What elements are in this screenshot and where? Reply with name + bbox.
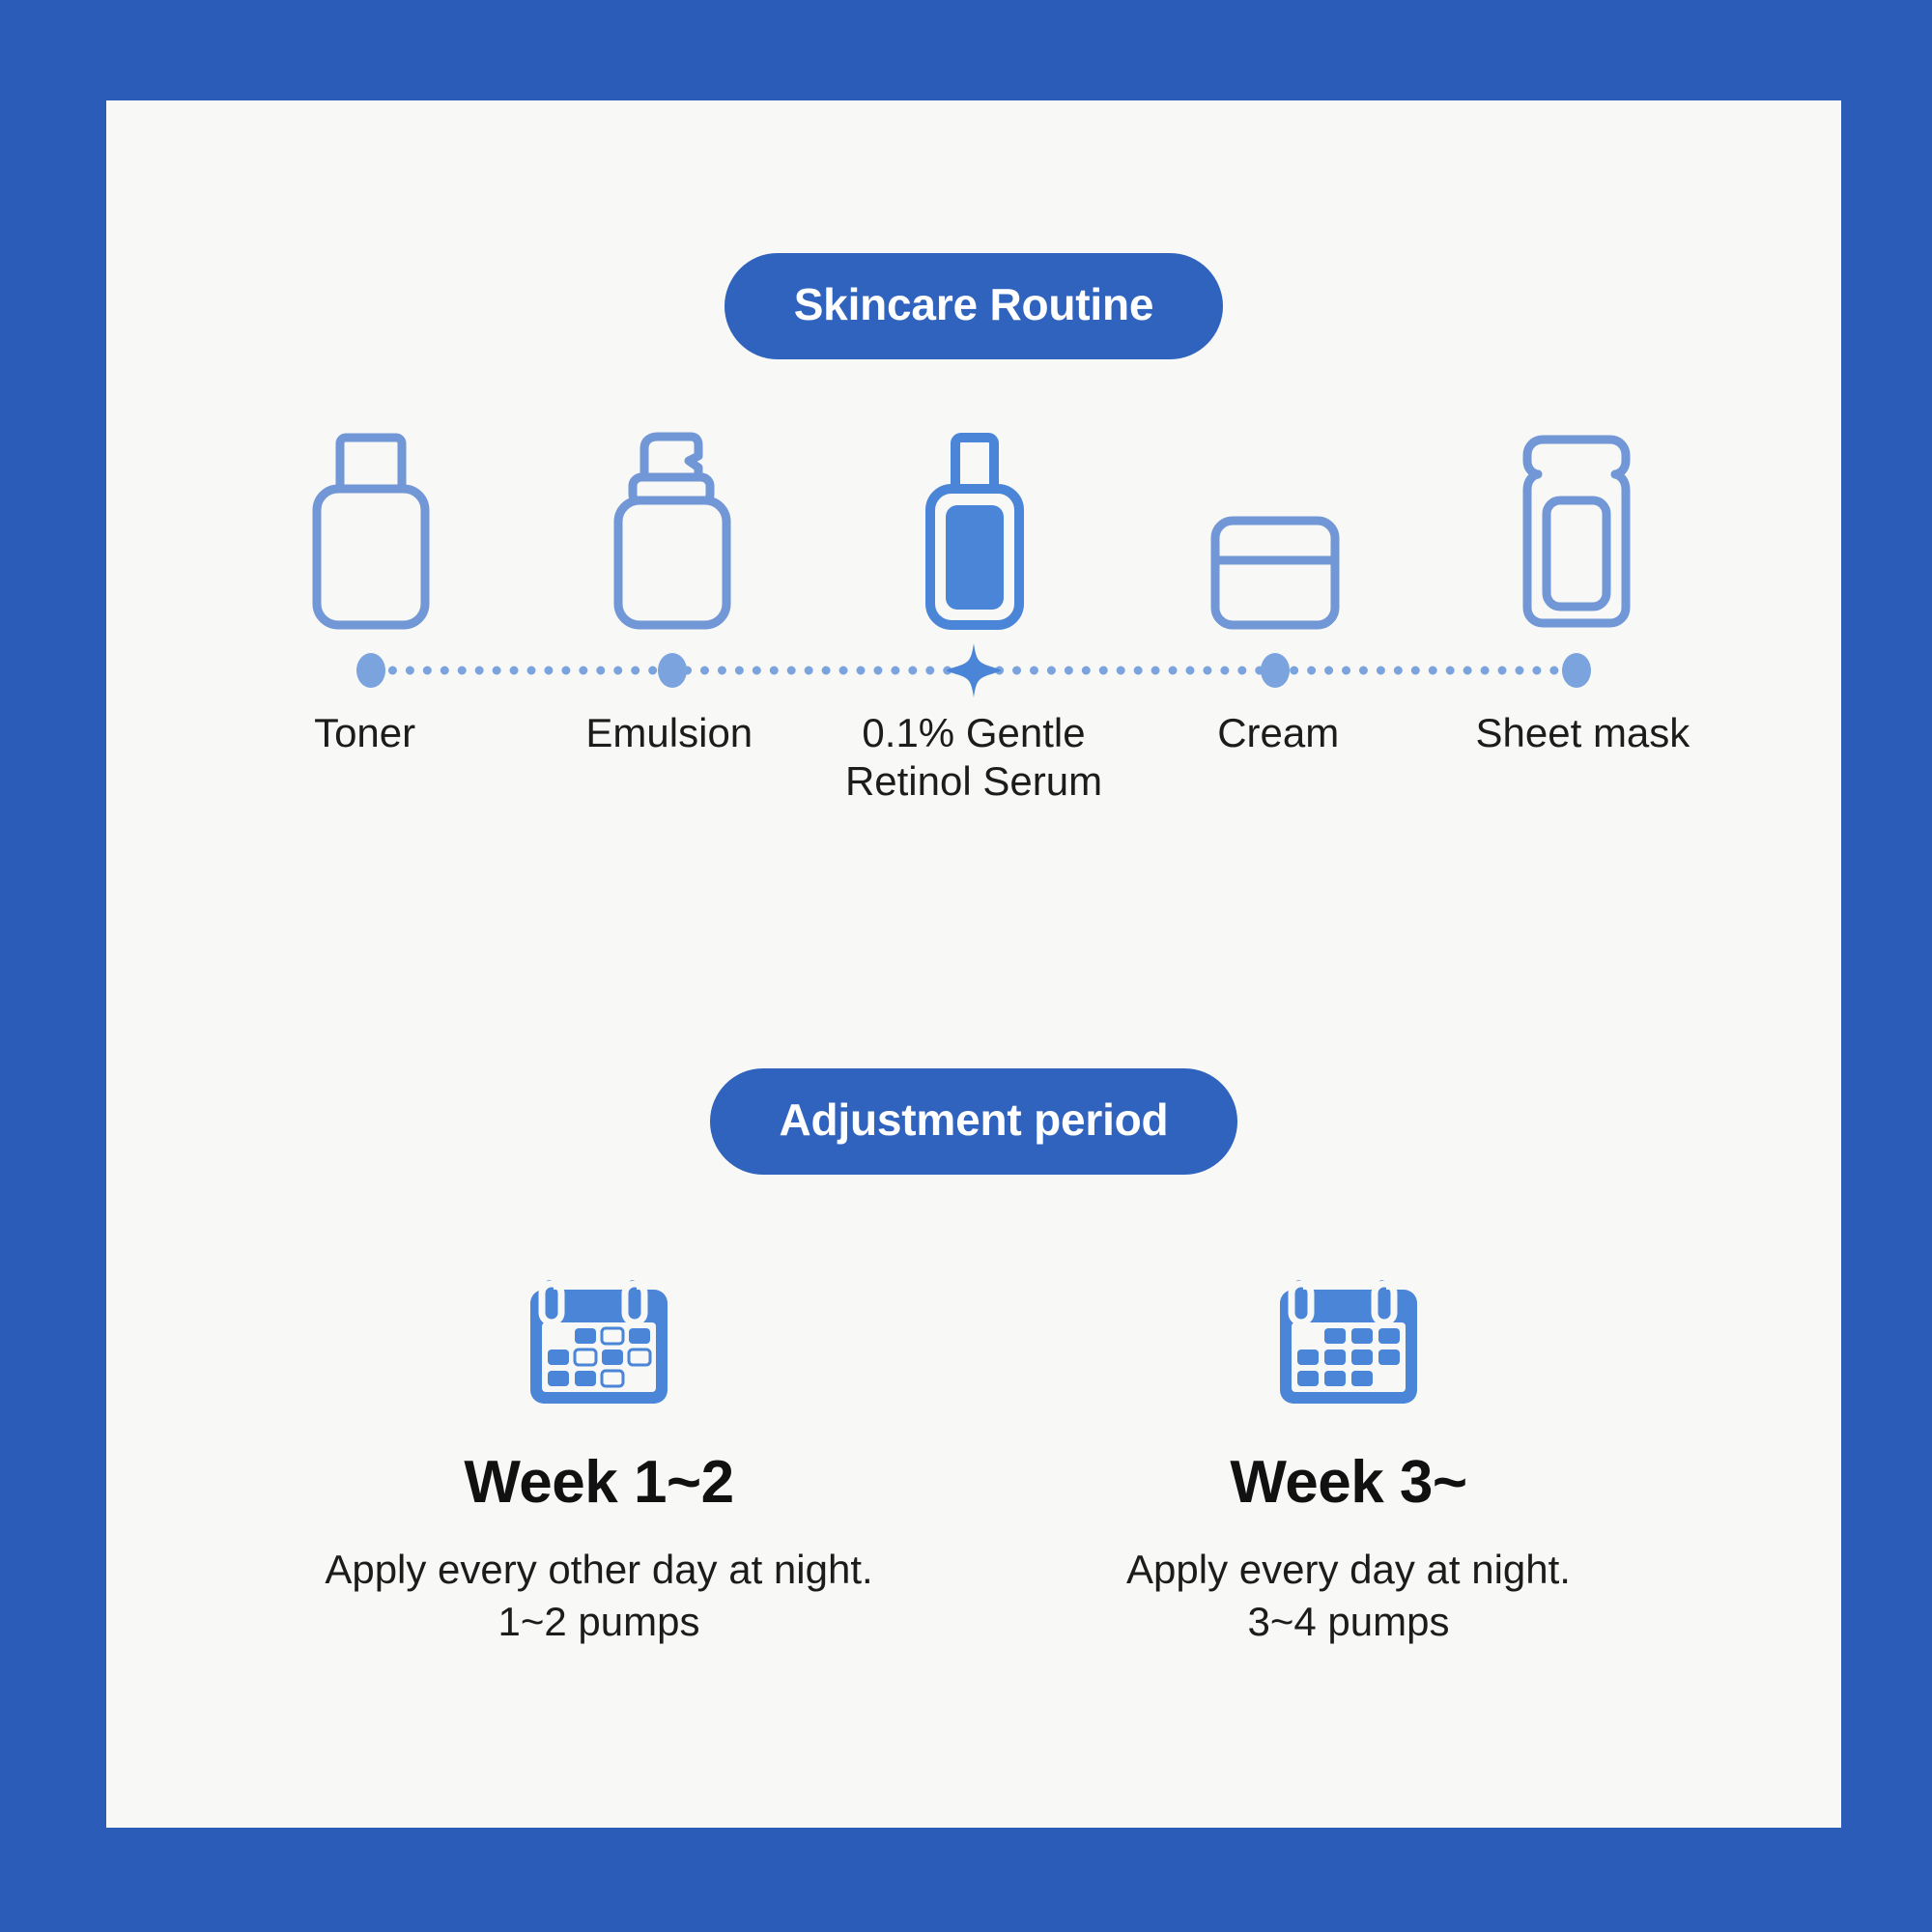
period-desc-line-1: Apply every day at night. — [1126, 1544, 1571, 1596]
period-desc-line-1: Apply every other day at night. — [325, 1544, 872, 1596]
step-marker-emulsion — [576, 653, 769, 688]
step-dot-icon — [1261, 653, 1290, 688]
step-dot-icon — [1562, 653, 1591, 688]
step-marker-toner — [274, 653, 468, 688]
step-label-row: Toner Emulsion 0.1% Gentle Retinol Serum… — [106, 709, 1841, 805]
step-label-emulsion: Emulsion — [517, 709, 821, 805]
step-dot-icon — [356, 653, 385, 688]
step-icon-toner — [274, 429, 468, 634]
step-label-serum: 0.1% Gentle Retinol Serum — [821, 709, 1125, 805]
calendar-icon — [528, 1272, 669, 1407]
period-title: Week 3~ — [1230, 1453, 1466, 1513]
sparkle-icon — [946, 642, 1002, 698]
period-week-1-2: Week 1~2 Apply every other day at night.… — [299, 1267, 898, 1648]
period-desc-line-2: 3~4 pumps — [1126, 1596, 1571, 1648]
step-marker-sheet-mask — [1480, 653, 1673, 688]
routine-steps: Toner Emulsion 0.1% Gentle Retinol Serum… — [106, 429, 1841, 835]
calendar-wrap — [1278, 1267, 1419, 1412]
step-icon-sheet-mask — [1480, 429, 1673, 634]
routine-connector — [274, 653, 1673, 688]
period-description: Apply every other day at night. 1~2 pump… — [325, 1544, 872, 1648]
toner-bottle-icon — [308, 429, 434, 634]
step-label-sheet-mask: Sheet mask — [1431, 709, 1735, 805]
step-icon-cream — [1179, 429, 1372, 634]
adjustment-periods: Week 1~2 Apply every other day at night.… — [106, 1267, 1841, 1648]
routine-badge: Skincare Routine — [724, 253, 1224, 359]
connector-nodes — [274, 653, 1673, 688]
routine-badge-row: Skincare Routine — [106, 100, 1841, 359]
step-dot-icon — [658, 653, 687, 688]
step-marker-serum — [877, 642, 1070, 698]
adjustment-badge-row: Adjustment period — [106, 835, 1841, 1175]
step-label-toner: Toner — [213, 709, 517, 805]
period-week-3: Week 3~ Apply every day at night. 3~4 pu… — [1049, 1267, 1648, 1648]
pump-bottle-icon — [610, 429, 735, 634]
step-icon-serum — [877, 429, 1070, 634]
period-description: Apply every day at night. 3~4 pumps — [1126, 1544, 1571, 1648]
serum-bottle-icon — [911, 429, 1037, 634]
cream-jar-icon — [1207, 429, 1343, 634]
infographic-card: Skincare Routine — [106, 100, 1841, 1828]
sheet-mask-icon — [1519, 429, 1634, 634]
adjustment-badge: Adjustment period — [710, 1068, 1238, 1175]
calendar-wrap — [528, 1267, 669, 1412]
product-icon-row — [106, 429, 1841, 634]
period-title: Week 1~2 — [464, 1453, 733, 1513]
step-marker-cream — [1179, 653, 1372, 688]
period-desc-line-2: 1~2 pumps — [325, 1596, 872, 1648]
step-icon-emulsion — [576, 429, 769, 634]
step-label-cream: Cream — [1126, 709, 1431, 805]
calendar-icon — [1278, 1272, 1419, 1407]
